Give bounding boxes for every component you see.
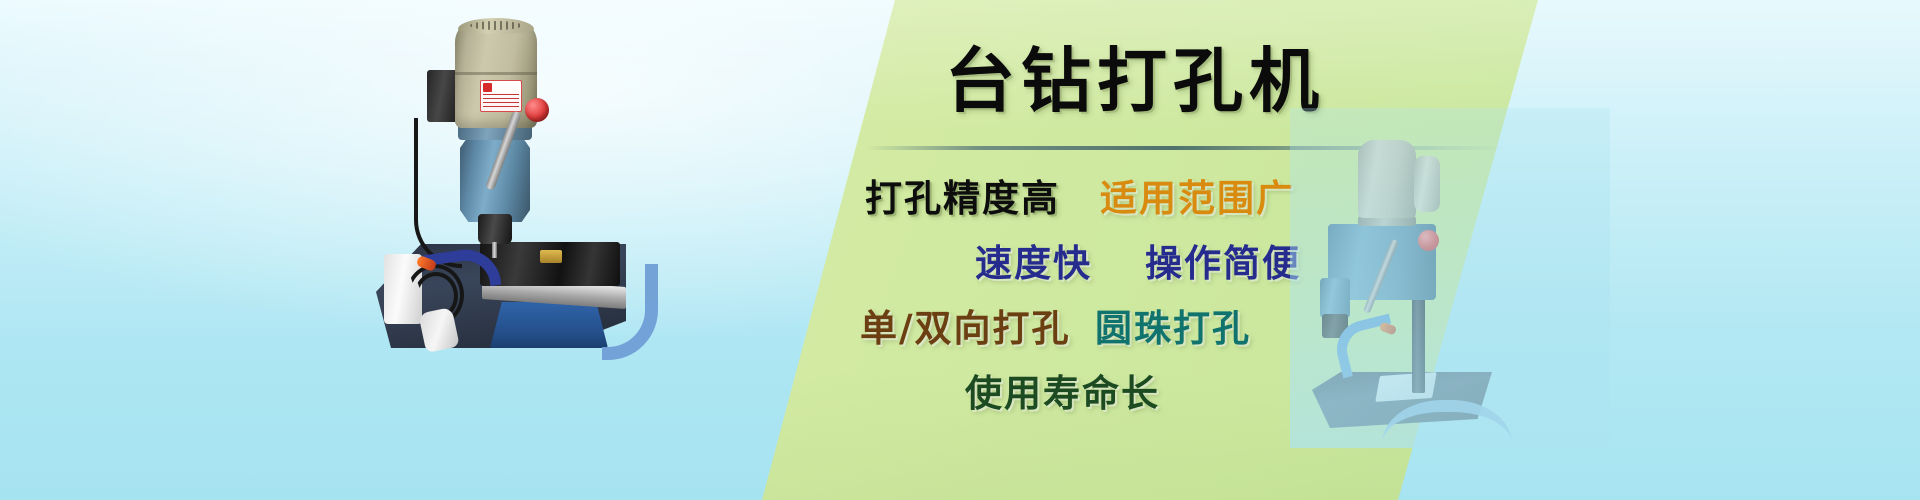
machine-motor-vents [470,21,522,30]
right-machine-quill [1320,278,1350,318]
feature-long-service-life: 使用寿命长 [965,371,1160,415]
feature-row-1: 打孔精度高 适用范围广 [0,176,1920,241]
machine-lever-knob [525,98,549,122]
feature-row-3: 单/双向打孔 圆珠打孔 [0,306,1920,371]
feature-row-2: 速度快 操作简便 [0,241,1920,306]
feature-list: 打孔精度高 适用范围广 速度快 操作简便 单/双向打孔 圆珠打孔 使用寿命长 [0,176,1920,436]
feature-ball-drilling: 圆珠打孔 [1095,306,1251,350]
machine-motor-band [455,72,537,75]
right-machine-capacitor [1414,156,1440,212]
promo-banner: 台钻打孔机 打孔精度高 适用范围广 速度快 操作简便 单/双向打孔 圆珠打孔 使… [0,0,1920,500]
right-machine-label-card [1375,372,1436,402]
feature-single-double-drilling: 单/双向打孔 [860,306,1071,350]
page-title: 台钻打孔机 [945,46,1325,116]
feature-drilling-accuracy: 打孔精度高 [865,176,1060,220]
feature-fast-speed: 速度快 [975,241,1092,285]
right-machine-lever-knob [1418,230,1439,251]
right-machine-motor-housing [1358,140,1416,218]
feature-easy-operation: 操作简便 [1145,241,1301,285]
machine-spec-label [480,80,522,112]
product-photo-right [1320,128,1580,428]
feature-wide-application: 适用范围广 [1100,176,1295,220]
feature-row-4: 使用寿命长 [0,371,1920,436]
